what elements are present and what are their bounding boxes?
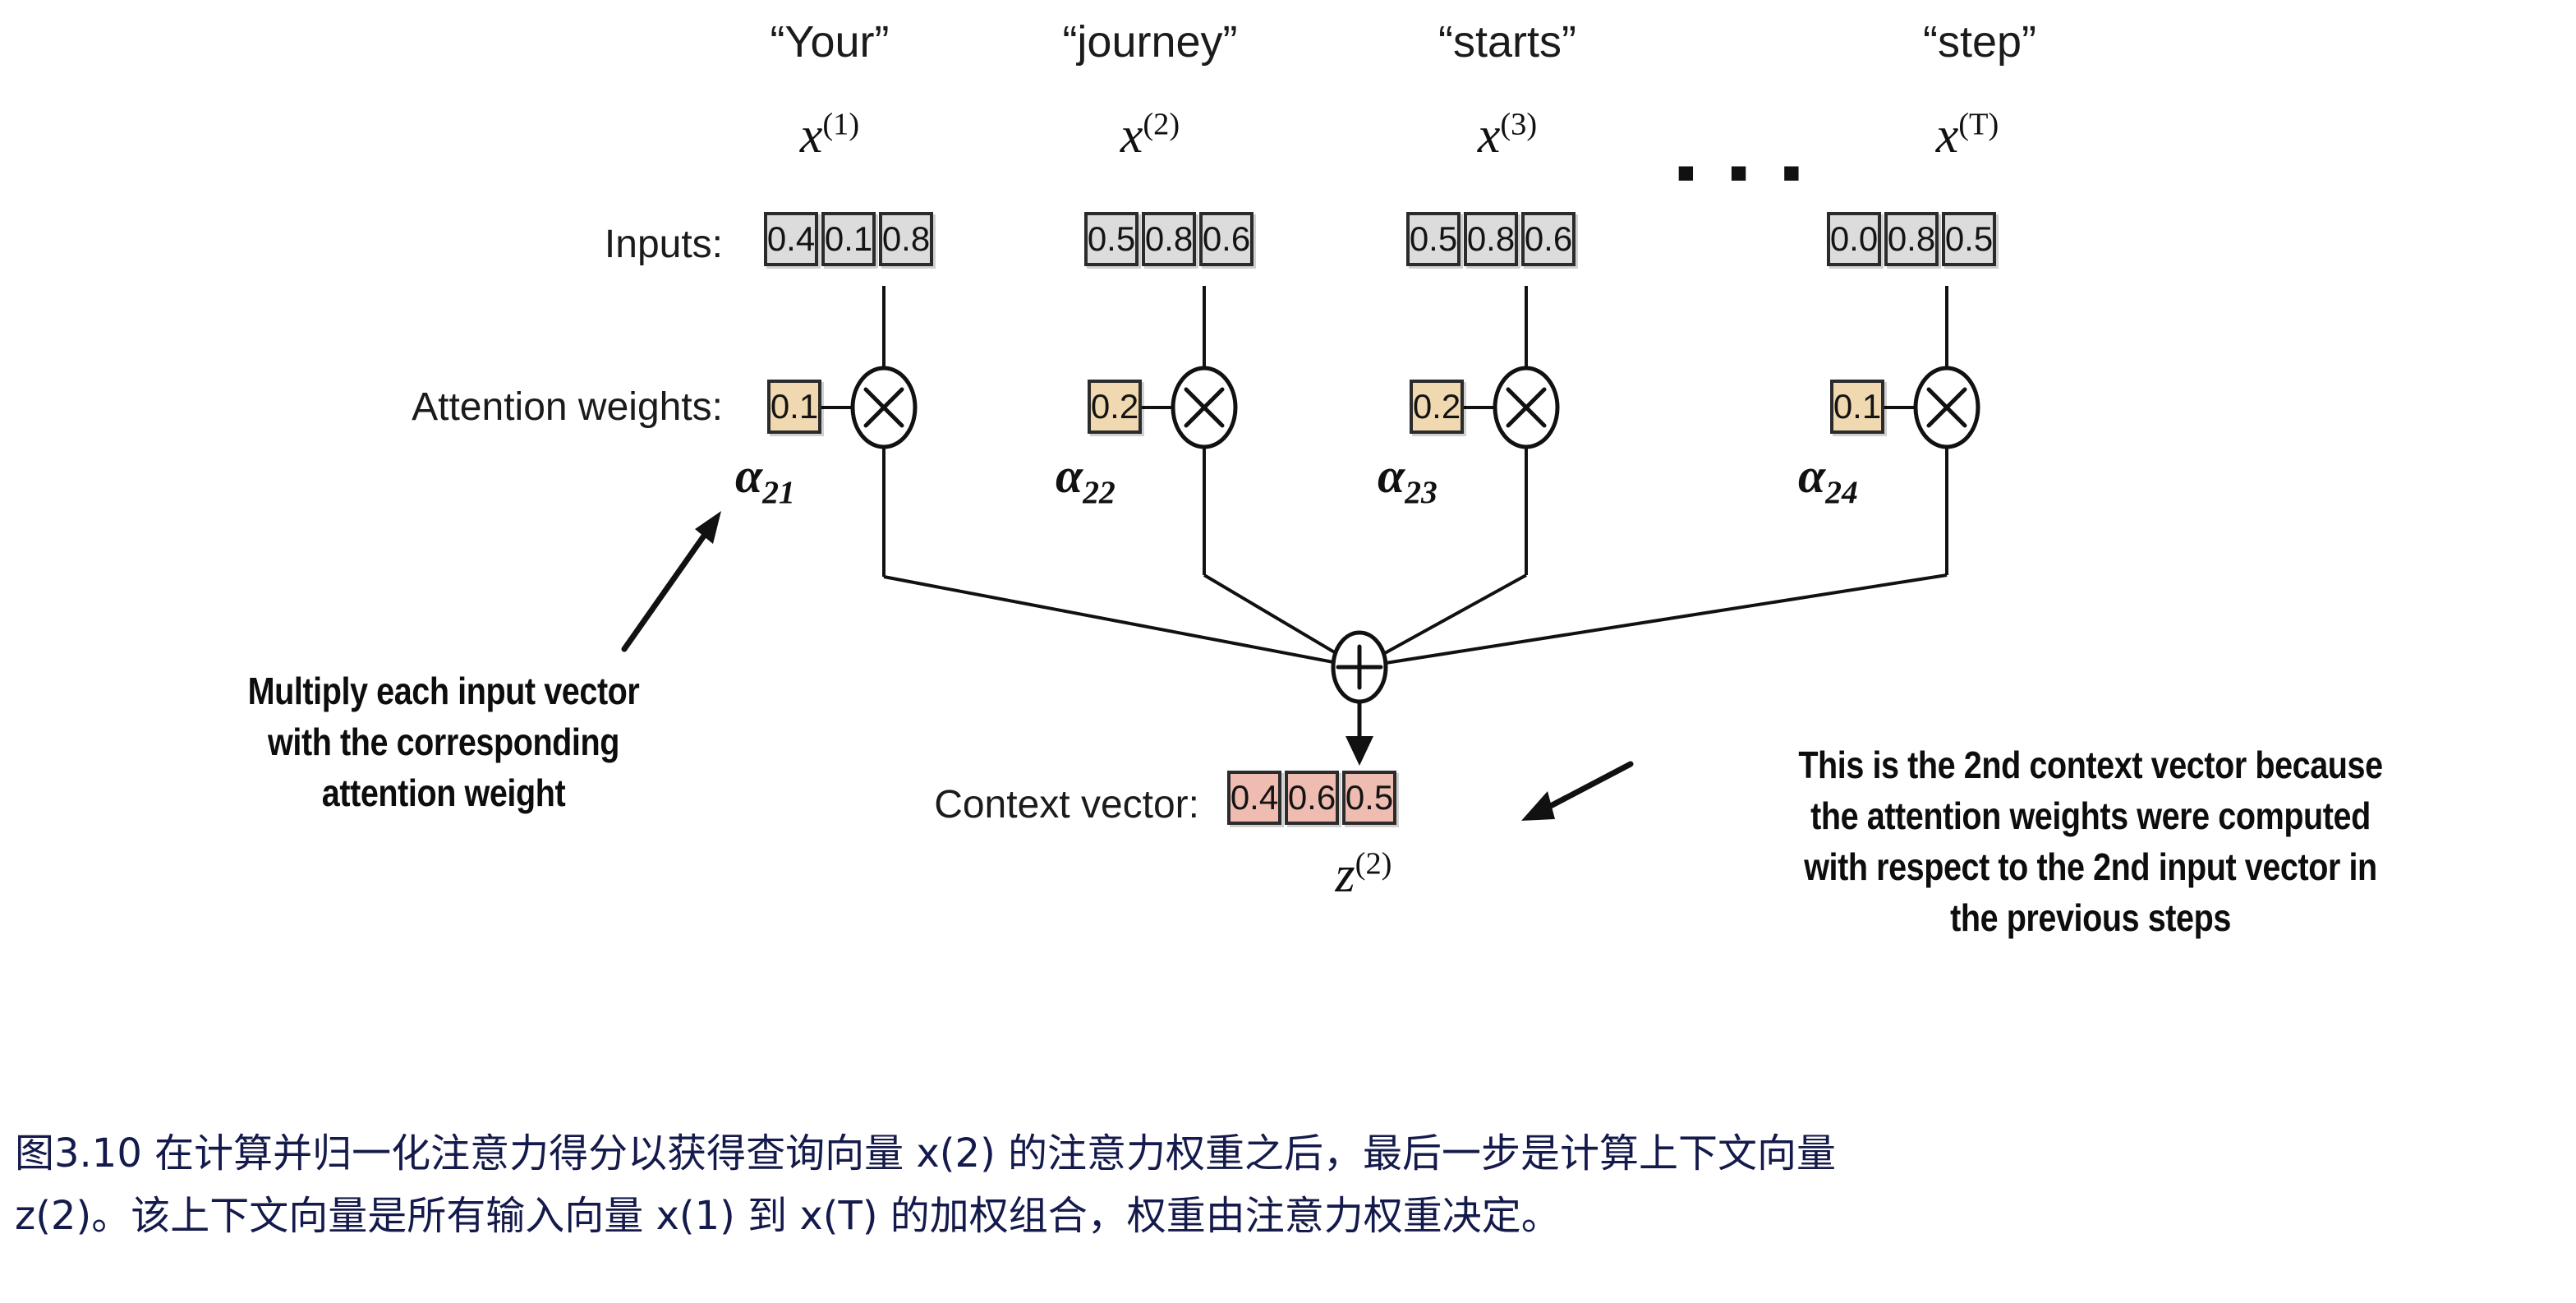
caption-line-1: 图3.10 在计算并归一化注意力得分以获得查询向量 x(2) 的注意力权重之后，…	[15, 1126, 2569, 1183]
input-cell: 0.6	[1521, 212, 1575, 266]
connector-lines	[0, 0, 2576, 1303]
input-cell: 0.1	[821, 212, 876, 266]
context-vector: 0.4 0.6 0.5	[1227, 771, 1396, 825]
ellipsis-icon: ▪ ▪ ▪	[1676, 160, 1810, 183]
alpha-base-4: α	[1798, 449, 1825, 503]
alpha-label-1: α21	[735, 448, 795, 504]
alpha-base-2: α	[1056, 449, 1083, 503]
alpha-label-4: α24	[1798, 448, 1858, 504]
token-var-3: x(3)	[1417, 107, 1598, 165]
token-var-sup-2: (2)	[1143, 107, 1180, 141]
token-word-3: “starts”	[1396, 16, 1618, 67]
context-var-label: z(2)	[1281, 846, 1446, 905]
attention-weights-row-label: Attention weights:	[279, 384, 723, 430]
alpha-label-2: α22	[1056, 448, 1115, 504]
alpha-label-3: α23	[1378, 448, 1437, 504]
inputs-row-label: Inputs:	[493, 222, 723, 267]
input-cell: 0.0	[1827, 212, 1881, 266]
alpha-base-1: α	[735, 449, 762, 503]
alpha-sub-1: 21	[762, 474, 795, 510]
figure-caption: 图3.10 在计算并归一化注意力得分以获得查询向量 x(2) 的注意力权重之后，…	[15, 1126, 2569, 1245]
input-cell: 0.8	[879, 212, 933, 266]
token-var-4: x(T)	[1877, 107, 2058, 165]
left-annotation-line-3: attention weight	[161, 767, 726, 818]
token-var-sup-3: (3)	[1500, 107, 1537, 141]
left-annotation-arrow	[624, 511, 721, 649]
left-annotation: Multiply each input vector with the corr…	[161, 665, 726, 818]
sum-to-context-arrow	[1345, 703, 1373, 766]
alpha-sub-2: 22	[1083, 474, 1115, 510]
input-cell: 0.5	[1942, 212, 1996, 266]
sum-node	[1333, 633, 1386, 702]
right-annotation-line-2: the attention weights were computed	[1677, 790, 2504, 841]
input-vector-3: 0.5 0.8 0.6	[1406, 212, 1575, 266]
token-var-base-4: x	[1936, 108, 1959, 163]
token-var-base-1: x	[800, 108, 823, 163]
token-var-base-2: x	[1120, 108, 1143, 163]
input-cell: 0.5	[1406, 212, 1460, 266]
right-annotation-line-4: the previous steps	[1677, 892, 2504, 943]
right-annotation-line-1: This is the 2nd context vector because	[1677, 739, 2504, 790]
token-word-4: “step”	[1873, 16, 2086, 67]
context-cell: 0.4	[1227, 771, 1281, 825]
token-word-1: “Your”	[739, 16, 920, 67]
attention-weight-cell-4: 0.1	[1830, 380, 1884, 434]
alpha-sub-3: 23	[1405, 474, 1437, 510]
token-var-1: x(1)	[739, 107, 920, 165]
token-word-2: “journey”	[1027, 16, 1273, 67]
input-cell: 0.6	[1199, 212, 1253, 266]
input-cell: 0.8	[1142, 212, 1196, 266]
right-annotation-line-3: with respect to the 2nd input vector in	[1677, 841, 2504, 892]
context-var-base: z	[1336, 847, 1355, 903]
context-cell: 0.5	[1342, 771, 1396, 825]
left-annotation-line-1: Multiply each input vector	[161, 665, 726, 716]
alpha-sub-4: 24	[1825, 474, 1858, 510]
input-cell: 0.5	[1084, 212, 1138, 266]
figure-page: “Your” “journey” “starts” “step” x(1) x(…	[0, 0, 2576, 1303]
right-annotation: This is the 2nd context vector because t…	[1677, 739, 2504, 943]
left-annotation-line-2: with the corresponding	[161, 716, 726, 767]
input-vector-1: 0.4 0.1 0.8	[764, 212, 933, 266]
token-var-2: x(2)	[1060, 107, 1240, 165]
input-vector-2: 0.5 0.8 0.6	[1084, 212, 1253, 266]
token-var-base-3: x	[1478, 108, 1501, 163]
right-annotation-arrow	[1521, 764, 1631, 821]
input-cell: 0.4	[764, 212, 818, 266]
token-var-sup-1: (1)	[822, 107, 859, 141]
context-var-sup: (2)	[1355, 846, 1392, 881]
alpha-base-3: α	[1378, 449, 1405, 503]
attention-weight-cell-2: 0.2	[1088, 380, 1142, 434]
input-vector-4: 0.0 0.8 0.5	[1827, 212, 1996, 266]
attention-weight-cell-3: 0.2	[1410, 380, 1464, 434]
input-cell: 0.8	[1464, 212, 1518, 266]
attention-weight-cell-1: 0.1	[767, 380, 821, 434]
token-var-sup-4: (T)	[1958, 107, 1999, 141]
caption-line-2: z(2)。该上下文向量是所有输入向量 x(1) 到 x(T) 的加权组合，权重由…	[15, 1188, 2569, 1245]
input-cell: 0.8	[1884, 212, 1939, 266]
context-cell: 0.6	[1285, 771, 1339, 825]
context-vector-row-label: Context vector:	[854, 782, 1199, 827]
